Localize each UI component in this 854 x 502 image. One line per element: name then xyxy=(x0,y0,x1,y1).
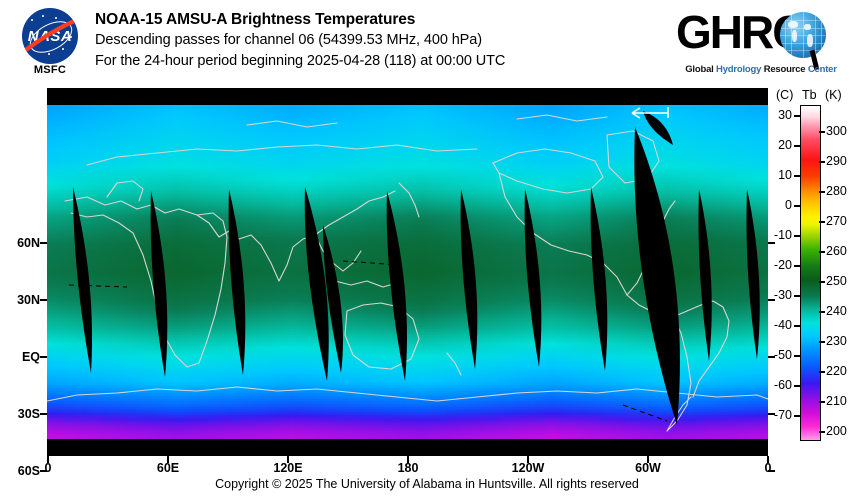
cb-tick-c--40 xyxy=(794,325,800,327)
cb-label-c-30: 30 xyxy=(764,108,792,122)
cb-tick-k-260 xyxy=(819,251,825,253)
cb-tick-c--70 xyxy=(794,415,800,417)
lon-label-120E: 120E xyxy=(273,461,302,475)
nasa-red-swoosh xyxy=(22,16,78,56)
cb-label-c--40: -40 xyxy=(764,318,792,332)
cb-tick-k-210 xyxy=(819,401,825,403)
cb-label-c-0: 0 xyxy=(764,198,792,212)
nasa-meatball-logo: NASA MSFC xyxy=(14,6,86,78)
cb-tick-k-290 xyxy=(819,161,825,163)
cb-label-c-20: 20 xyxy=(764,138,792,152)
cb-tick-c--10 xyxy=(794,235,800,237)
cb-tick-c--50 xyxy=(794,355,800,357)
cb-label-c--30: -30 xyxy=(764,288,792,302)
cb-label-k-250: 250 xyxy=(826,274,847,288)
ghrc-tagline-word-1: Global xyxy=(685,64,713,75)
header: NASA MSFC NOAA-15 AMSU-A Brightness Temp… xyxy=(0,0,854,88)
lat-tick-60N-right xyxy=(768,242,775,244)
cb-label-c--20: -20 xyxy=(764,258,792,272)
cb-label-k-270: 270 xyxy=(826,214,847,228)
lat-tick-30N xyxy=(40,299,47,301)
lon-label-60W: 60W xyxy=(635,461,661,475)
cb-label-c--50: -50 xyxy=(764,348,792,362)
cb-label-c-10: 10 xyxy=(764,168,792,182)
lat-label-EQ: EQ xyxy=(0,350,40,364)
cb-tick-k-250 xyxy=(819,281,825,283)
lon-label-0-right: 0 xyxy=(765,461,772,475)
cb-label-k-230: 230 xyxy=(826,334,847,348)
ghrc-tagline-word-3: Resource xyxy=(764,64,806,75)
swath-start-marker xyxy=(630,106,670,120)
lon-label-60E: 60E xyxy=(157,461,179,475)
ghrc-logo: GHRC Global Hydrology Resource Center xyxy=(676,6,846,80)
title-subtitle-period: For the 24-hour period beginning 2025-04… xyxy=(95,51,665,72)
colorbar-unit-kelvin: (K) xyxy=(825,88,842,102)
title-block: NOAA-15 AMSU-A Brightness Temperatures D… xyxy=(95,10,665,72)
cb-tick-k-280 xyxy=(819,191,825,193)
lat-label-30S: 30S xyxy=(0,407,40,421)
cb-label-c--10: -10 xyxy=(764,228,792,242)
equator-track-line xyxy=(47,105,768,439)
cb-label-k-220: 220 xyxy=(826,364,847,378)
ghrc-tagline: Global Hydrology Resource Center xyxy=(678,64,844,75)
lat-label-30N: 30N xyxy=(0,293,40,307)
cb-tick-k-200 xyxy=(819,431,825,433)
cb-tick-k-220 xyxy=(819,371,825,373)
cb-tick-c--30 xyxy=(794,295,800,297)
globe-icon xyxy=(780,12,826,58)
lon-label-180: 180 xyxy=(398,461,419,475)
cb-label-k-240: 240 xyxy=(826,304,847,318)
lat-tick-EQ xyxy=(40,356,47,358)
cb-label-c--60: -60 xyxy=(764,378,792,392)
lat-tick-30S xyxy=(40,413,47,415)
cb-label-k-260: 260 xyxy=(826,244,847,258)
nasa-center-label: MSFC xyxy=(14,64,86,76)
page-title: NOAA-15 AMSU-A Brightness Temperatures xyxy=(95,10,665,30)
cb-tick-c-0 xyxy=(794,205,800,207)
cb-tick-k-230 xyxy=(819,341,825,343)
cb-label-k-210: 210 xyxy=(826,394,847,408)
cb-tick-k-300 xyxy=(819,131,825,133)
colorbar-variable: Tb xyxy=(802,88,817,102)
cb-tick-k-240 xyxy=(819,311,825,313)
cb-label-k-200: 200 xyxy=(826,424,847,438)
colorbar-panel: (C) Tb (K) 30 20 10 0 -10 -20 -30 -40 -5… xyxy=(776,88,854,458)
ghrc-tagline-word-4: Center xyxy=(808,64,837,75)
cb-label-c--70: -70 xyxy=(764,408,792,422)
cb-tick-k-270 xyxy=(819,221,825,223)
map-panel[interactable] xyxy=(47,88,768,456)
title-subtitle-channel: Descending passes for channel 06 (54399.… xyxy=(95,30,665,51)
cb-tick-c-20 xyxy=(794,145,800,147)
colorbar-gradient xyxy=(800,105,821,441)
cb-tick-c--60 xyxy=(794,385,800,387)
copyright-notice: Copyright © 2025 The University of Alaba… xyxy=(0,477,854,491)
lon-label-120W: 120W xyxy=(512,461,545,475)
lat-label-60S: 60S xyxy=(0,464,40,478)
colorbar-unit-celsius: (C) xyxy=(776,88,793,102)
lat-label-60N: 60N xyxy=(0,236,40,250)
cb-tick-c-10 xyxy=(794,175,800,177)
cb-tick-c-30 xyxy=(794,115,800,117)
lat-tick-60N xyxy=(40,242,47,244)
cb-label-k-300: 300 xyxy=(826,124,847,138)
map-image-frame[interactable] xyxy=(47,105,768,439)
lon-label-0: 0 xyxy=(45,461,52,475)
cb-label-k-290: 290 xyxy=(826,154,847,168)
nasa-insignia-circle: NASA xyxy=(22,8,78,64)
cb-label-k-280: 280 xyxy=(826,184,847,198)
ghrc-tagline-word-2: Hydrology xyxy=(716,64,761,75)
cb-tick-c--20 xyxy=(794,265,800,267)
